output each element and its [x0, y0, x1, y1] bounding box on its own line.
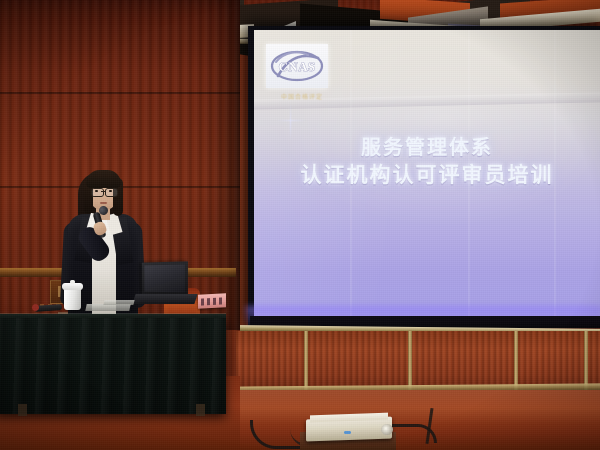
laptop-keyboard-base[interactable] — [132, 294, 197, 304]
table-leg — [196, 404, 205, 416]
cnas-logo: CNAS — [266, 44, 328, 88]
table-skirt — [0, 318, 226, 414]
name-card — [198, 293, 226, 308]
teacup — [64, 288, 81, 310]
conference-room-photo: CNAS 中国合格评定 服务管理体系 认证机构认可评审员培训 — [0, 0, 600, 450]
glasses-bridge — [101, 191, 105, 192]
presenter-hair-front — [86, 170, 121, 188]
panel-divider — [304, 331, 308, 393]
projector-power-led — [344, 431, 351, 434]
microphone-indicator — [32, 304, 39, 311]
papers-on-table — [103, 300, 134, 305]
presenter-eye — [109, 190, 112, 192]
slide-title-line-1: 服务管理体系 — [254, 134, 600, 161]
presenter-mouth — [100, 202, 107, 204]
projection-screen: CNAS 中国合格评定 服务管理体系 认证机构认可评审员培训 — [254, 30, 600, 318]
cnas-logo-text: CNAS — [279, 59, 316, 74]
slide-title-line-2: 认证机构认可评审员培训 — [254, 161, 600, 189]
teacup-lid-knob — [70, 280, 75, 284]
papers-on-table — [85, 304, 130, 311]
slide-light-streak-horizontal — [276, 120, 306, 121]
presenter-eye — [95, 190, 98, 192]
lower-wall-panels — [236, 331, 600, 393]
name-card-text — [201, 297, 223, 305]
table-leg — [18, 404, 27, 416]
floor-reflection — [230, 390, 600, 424]
teacup-lid — [62, 283, 83, 290]
wall-seam — [0, 92, 240, 94]
laptop[interactable] — [142, 261, 188, 296]
panel-divider — [408, 331, 412, 393]
table-skirt-folds — [0, 318, 226, 414]
slide-title-block: 服务管理体系 认证机构认可评审员培训 — [254, 134, 600, 189]
slide-small-subtitle: 中国合格评定 — [274, 92, 330, 101]
